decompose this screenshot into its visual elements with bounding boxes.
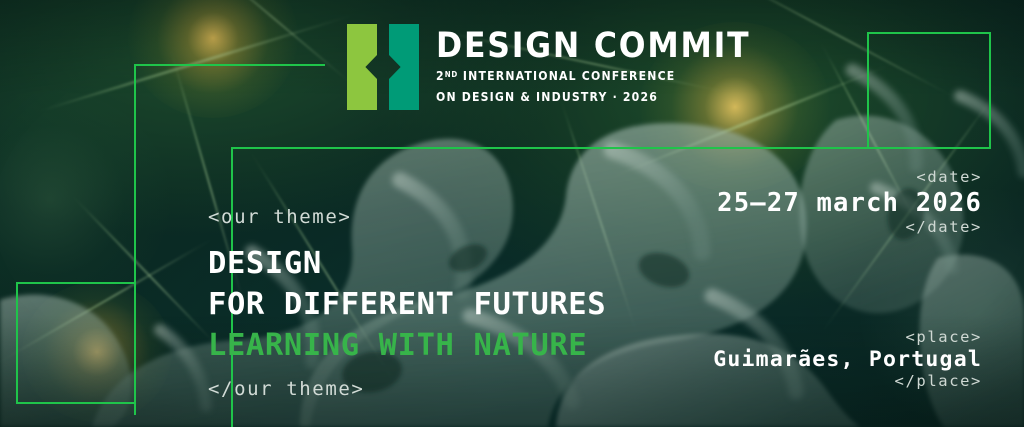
logo-subtitle-ordinal: 2 bbox=[436, 68, 445, 83]
theme-line-3: LEARNING WITH NATURE bbox=[208, 325, 606, 366]
place-open-tag: <place> bbox=[713, 330, 982, 346]
date-open-tag: <date> bbox=[717, 170, 982, 186]
theme-line-2: FOR DIFFERENT FUTURES bbox=[208, 284, 606, 325]
theme-open-tag: <our theme> bbox=[208, 208, 606, 227]
logo-subtitle-line-1: 2ND INTERNATIONAL CONFERENCE bbox=[436, 68, 743, 84]
logo-subtitle-rest: INTERNATIONAL CONFERENCE bbox=[458, 68, 675, 83]
place-block: <place> Guimarães, Portugal </place> bbox=[713, 330, 982, 390]
logo-subtitle-ordinal-suffix: ND bbox=[445, 70, 458, 79]
date-block: <date> 25–27 march 2026 </date> bbox=[717, 170, 982, 235]
date-value: 25–27 march 2026 bbox=[717, 186, 982, 220]
theme-line-1: DESIGN bbox=[208, 243, 606, 284]
place-close-tag: </place> bbox=[713, 374, 982, 390]
conference-banner: DESIGN COMMIT 2ND INTERNATIONAL CONFEREN… bbox=[0, 0, 1024, 427]
logo-lockup: DESIGN COMMIT 2ND INTERNATIONAL CONFEREN… bbox=[347, 24, 785, 110]
place-value: Guimarães, Portugal bbox=[713, 346, 982, 375]
theme-block: <our theme> DESIGN FOR DIFFERENT FUTURES… bbox=[208, 208, 606, 399]
theme-lines: DESIGN FOR DIFFERENT FUTURES LEARNING WI… bbox=[208, 243, 606, 367]
date-close-tag: </date> bbox=[717, 220, 982, 236]
design-commit-x-mark bbox=[347, 24, 419, 110]
logo-subtitle-line-2: ON DESIGN & INDUSTRY · 2026 bbox=[436, 89, 743, 105]
logo-title: DESIGN COMMIT bbox=[436, 29, 750, 64]
theme-close-tag: </our theme> bbox=[208, 380, 606, 399]
logo-text-group: DESIGN COMMIT 2ND INTERNATIONAL CONFEREN… bbox=[436, 29, 785, 104]
